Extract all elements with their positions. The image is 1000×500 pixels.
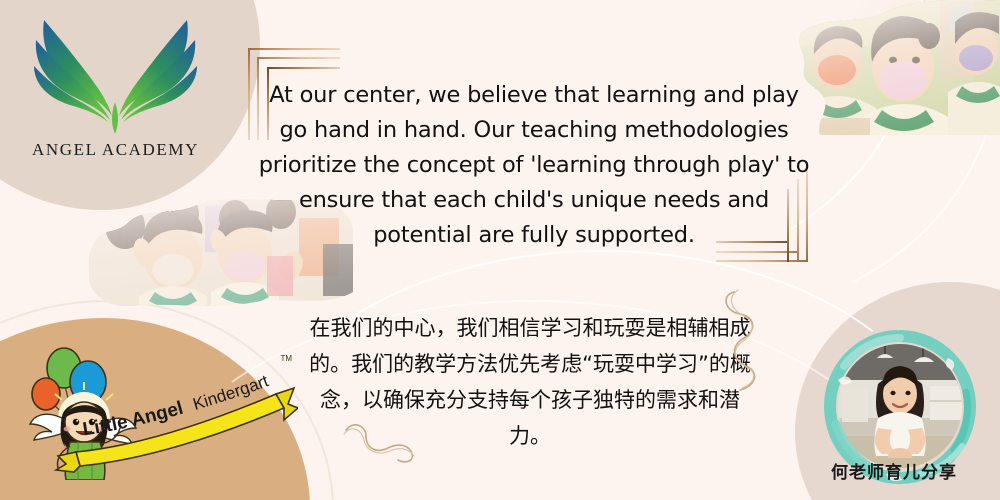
angel-academy-logo: ANGEL ACADEMY [18,12,213,172]
slide-canvas: ANGEL ACADEMY At our center, we believe … [0,0,1000,500]
angel-academy-wordmark: ANGEL ACADEMY [18,140,213,160]
little-angel-girl-icon: Little Angel Kindergarten [18,330,298,480]
presenter-caption: 何老师育儿分享 [788,458,1000,483]
little-angel-kindergarten-logo: Little Angel Kindergarten TM [18,330,298,480]
squiggle-line-bottom [340,418,430,473]
trademark-symbol: TM [280,354,292,363]
photo-children-classroom [790,0,1000,135]
angel-wings-icon [18,12,213,142]
squiggle-line-right [714,286,774,401]
quote-english: At our center, we believe that learning … [258,78,810,253]
